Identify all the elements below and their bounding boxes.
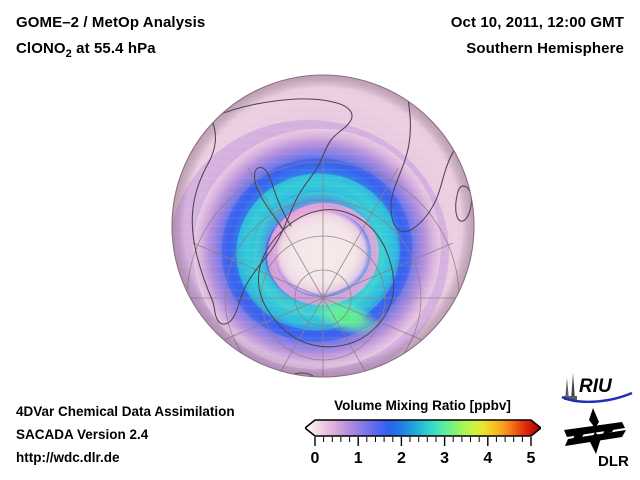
- pressure-level-label: at 55.4 hPa: [72, 40, 156, 57]
- logo-panel: RIU DLR: [556, 370, 636, 476]
- colorbar-tick-labels: 0 1 2 3 4 5: [311, 450, 536, 467]
- colorbar: Volume Mixing Ratio [ppbv]: [300, 398, 545, 476]
- page-subtitle: ClONO2 at 55.4 hPa: [16, 40, 156, 60]
- cathedral-spires-icon: [564, 373, 577, 400]
- limb-shading: [172, 75, 474, 377]
- colorbar-minor-ticks: [324, 437, 523, 442]
- species-label: ClONO: [16, 40, 66, 57]
- colorbar-tick-label: 4: [483, 450, 492, 467]
- colorbar-tick-label: 2: [397, 450, 406, 467]
- island-arc-3: [385, 367, 409, 370]
- footer-method: 4DVar Chemical Data Assimilation: [16, 404, 235, 419]
- header-date: Oct 10, 2011, 12:00 GMT: [451, 14, 624, 31]
- dlr-logo: DLR: [562, 408, 632, 470]
- colorbar-graphic: 0 1 2 3 4 5: [305, 418, 541, 474]
- riu-wordmark: RIU: [579, 376, 613, 397]
- colorbar-title: Volume Mixing Ratio [ppbv]: [300, 398, 545, 413]
- footer-url[interactable]: http://wdc.dlr.de: [16, 450, 120, 465]
- colorbar-tick-label: 0: [311, 450, 320, 467]
- footer-version: SACADA Version 2.4: [16, 427, 148, 442]
- colorbar-tick-label: 1: [354, 450, 363, 467]
- dlr-wordmark: DLR: [598, 453, 629, 470]
- page-title: GOME–2 / MetOp Analysis: [16, 14, 205, 31]
- riu-logo: RIU: [558, 370, 634, 404]
- globe-map: [171, 74, 475, 378]
- colorbar-tick-label: 3: [440, 450, 449, 467]
- dlr-mark-icon: [564, 408, 626, 454]
- colorbar-ticks: [315, 437, 531, 446]
- colorbar-tick-label: 5: [527, 450, 536, 467]
- header-region: Southern Hemisphere: [466, 40, 624, 57]
